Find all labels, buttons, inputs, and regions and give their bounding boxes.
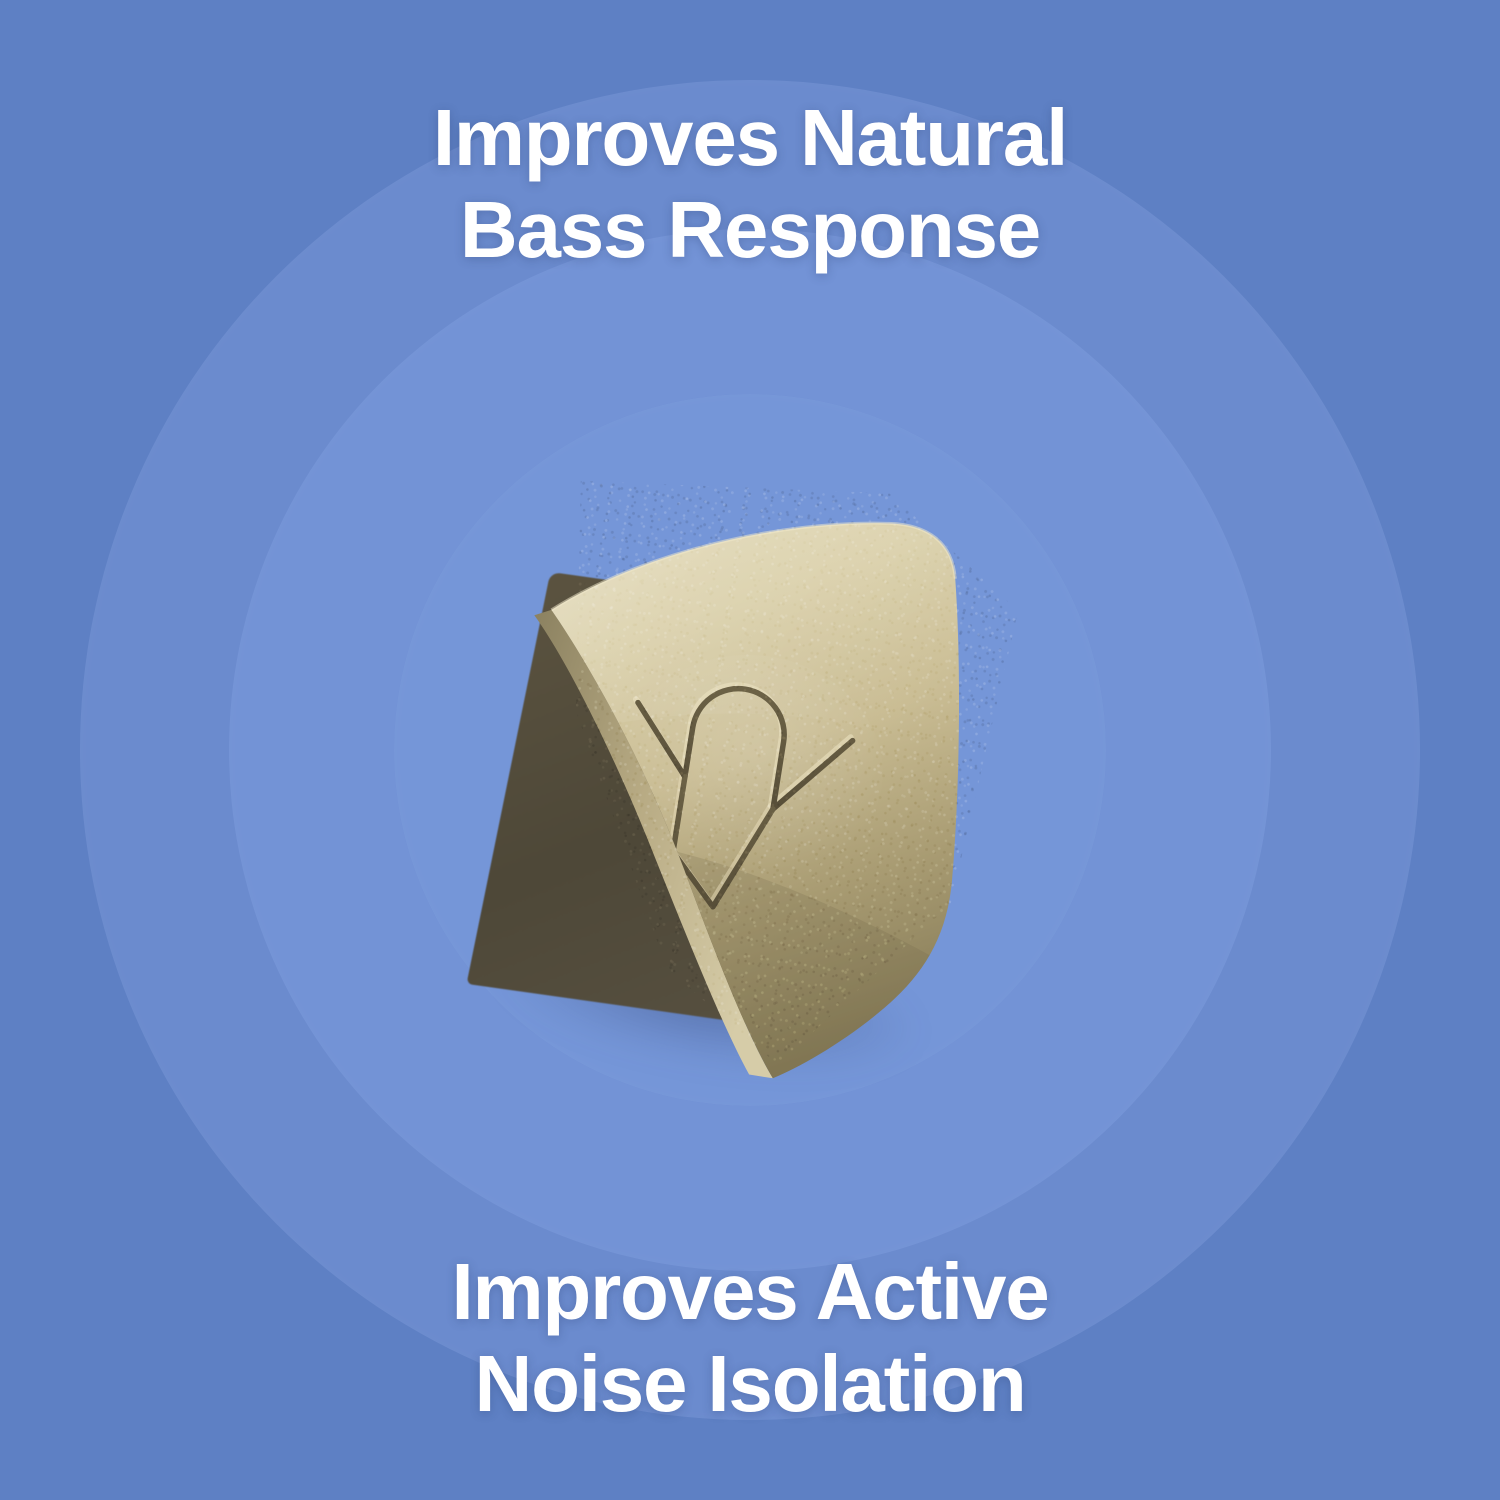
headline-bottom-line-1: Improves Active — [0, 1246, 1500, 1338]
foam-tip-body — [446, 438, 1053, 1112]
headline-bottom-line-2: Noise Isolation — [0, 1338, 1500, 1430]
headline-top-line-2: Bass Response — [0, 184, 1500, 276]
headline-top: Improves Natural Bass Response — [0, 92, 1500, 276]
product-image-foam-ear-tip — [446, 438, 1053, 1112]
headline-bottom: Improves Active Noise Isolation — [0, 1246, 1500, 1430]
product-feature-graphic: Improves Natural Bass Response — [0, 0, 1500, 1500]
headline-top-line-1: Improves Natural — [0, 92, 1500, 184]
